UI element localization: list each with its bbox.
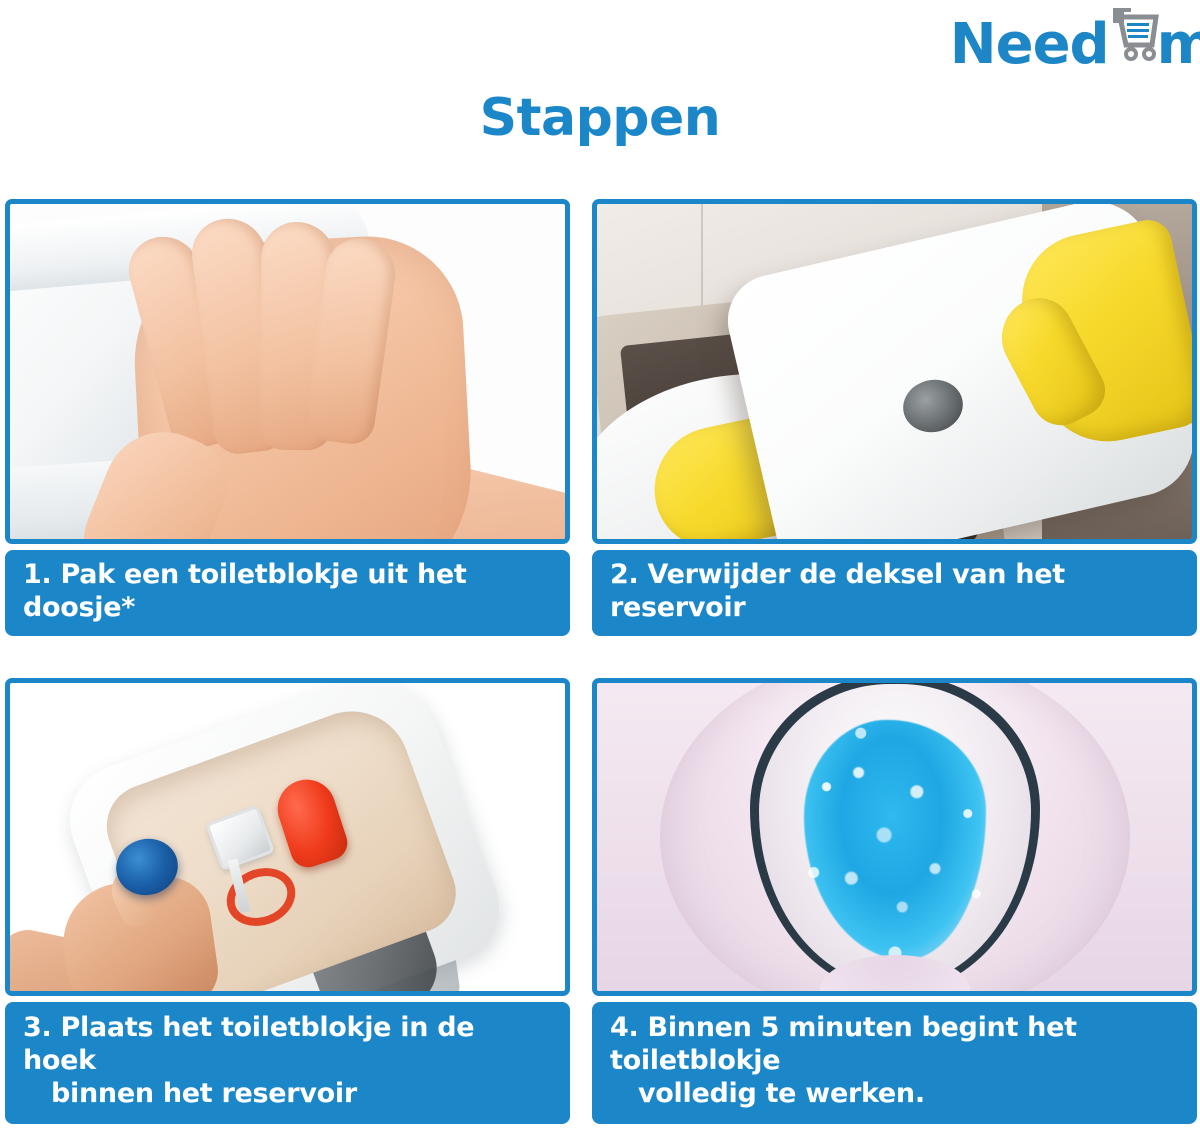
photo-removing-cistern-lid [592,199,1197,544]
step-caption-4-line2: volledig te werken. [610,1078,1179,1111]
step-caption-4: 4. Binnen 5 minuten begint het toiletblo… [592,1002,1197,1124]
step-card-2: 2. Verwijder de deksel van het reservoir [592,199,1197,636]
photo-hand-with-toilet-block [5,199,570,544]
steps-grid: 1. Pak een toiletblokje uit het doosje* … [5,199,1197,1124]
photo-blue-water-in-bowl [592,678,1197,996]
step-caption-3-line2: binnen het reservoir [23,1078,552,1111]
step-card-1: 1. Pak een toiletblokje uit het doosje* [5,199,570,636]
step-card-3: 3. Plaats het toiletblokje in de hoek bi… [5,678,570,1124]
step-caption-3-line1: 3. Plaats het toiletblokje in de hoek [23,1012,474,1076]
step-caption-3: 3. Plaats het toiletblokje in de hoek bi… [5,1002,570,1124]
step-caption-1: 1. Pak een toiletblokje uit het doosje* [5,550,570,636]
brand-logo[interactable]: Need m [910,8,1200,70]
blue-water-shape [804,720,986,960]
page-title: Stappen [0,88,1200,148]
infographic-page: Need m Stappen [0,0,1200,1129]
brand-name-part1: Need [950,17,1109,70]
shopping-cart-icon [1107,8,1159,63]
photo-placing-block-in-cistern [5,678,570,996]
step-caption-2: 2. Verwijder de deksel van het reservoir [592,550,1197,636]
brand-name-part2: m [1157,17,1200,70]
brand-logo-wordmark: Need m [950,8,1200,70]
step-caption-4-line1: 4. Binnen 5 minuten begint het toiletblo… [610,1012,1077,1076]
step-card-4: 4. Binnen 5 minuten begint het toiletblo… [592,678,1197,1124]
